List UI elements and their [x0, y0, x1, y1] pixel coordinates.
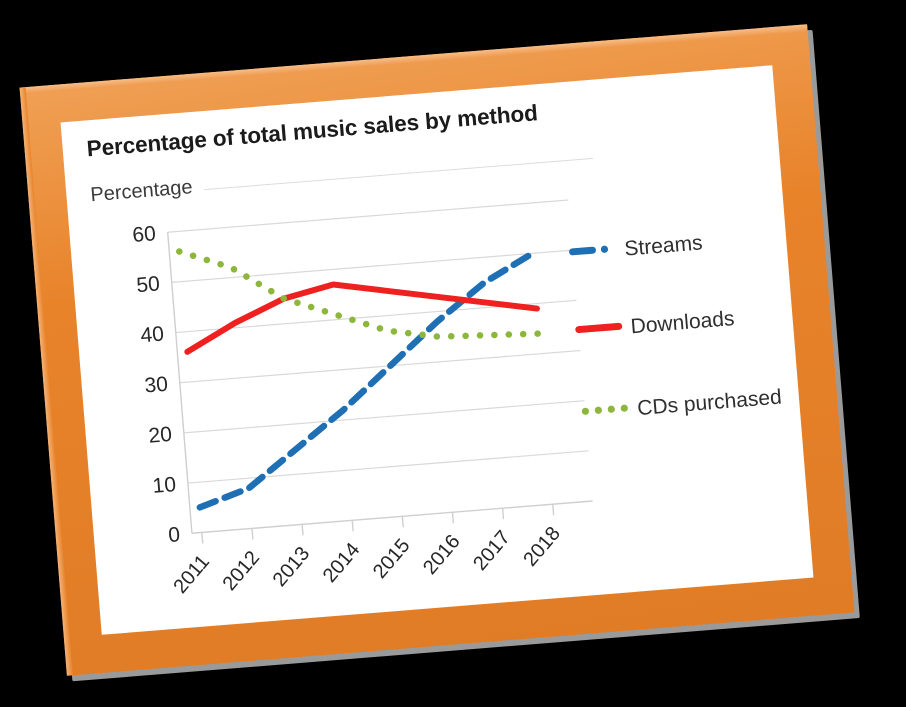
- y-tick-label: 20: [148, 423, 173, 448]
- chart-legend: StreamsDownloadsCDs purchased: [568, 226, 782, 424]
- legend-swatch-dot: [607, 405, 615, 413]
- legend-swatch: [579, 326, 619, 329]
- x-tick-label: 2014: [319, 539, 365, 587]
- y-tick-label: 60: [132, 222, 157, 247]
- chart-canvas: Percentage of total music sales by metho…: [61, 65, 814, 635]
- legend-item-cds-purchased[interactable]: CDs purchased: [581, 386, 783, 425]
- series-line-downloads: [183, 268, 538, 351]
- legend-item-streams[interactable]: Streams: [572, 231, 704, 264]
- y-tick-label: 30: [144, 373, 169, 398]
- legend-label: Streams: [624, 231, 704, 260]
- x-tick-labels-group: 20112012201320142015201620172018: [167, 521, 567, 600]
- x-tick-label: 2015: [369, 535, 415, 583]
- x-tick-label: 2018: [519, 523, 565, 571]
- y-tick-label: 50: [136, 272, 161, 297]
- y-tick-label: 40: [140, 323, 165, 348]
- line-chart-plot: 0102030405060 20112012201320142015201620…: [61, 65, 814, 635]
- legend-swatch-dot: [601, 245, 609, 253]
- legend-swatch: [573, 250, 593, 252]
- series-line-cds-purchased: [179, 223, 539, 362]
- legend-swatch-dot: [582, 407, 590, 415]
- x-tick-label: 2012: [219, 547, 265, 595]
- legend-swatch-dot: [620, 404, 628, 412]
- y-tick-label: 0: [167, 523, 180, 547]
- legend-item-downloads[interactable]: Downloads: [578, 307, 735, 342]
- y-tick-labels-group: 0102030405060: [132, 222, 181, 548]
- orange-picture-frame: Percentage of total music sales by metho…: [20, 24, 855, 675]
- data-series-group: [179, 223, 550, 507]
- legend-label: Downloads: [630, 307, 735, 338]
- y-tick-label: 10: [152, 473, 177, 498]
- gridlines-group: [168, 200, 593, 533]
- legend-swatch-dot: [594, 406, 602, 414]
- screenshot-canvas: Percentage of total music sales by metho…: [0, 0, 906, 707]
- legend-label: CDs purchased: [636, 386, 782, 421]
- x-tick-label: 2013: [269, 543, 315, 591]
- x-tick-label: 2016: [419, 531, 465, 579]
- framed-chart-card: Percentage of total music sales by metho…: [20, 24, 855, 675]
- x-tick-label: 2017: [469, 527, 515, 575]
- x-tick-label: 2011: [169, 551, 214, 598]
